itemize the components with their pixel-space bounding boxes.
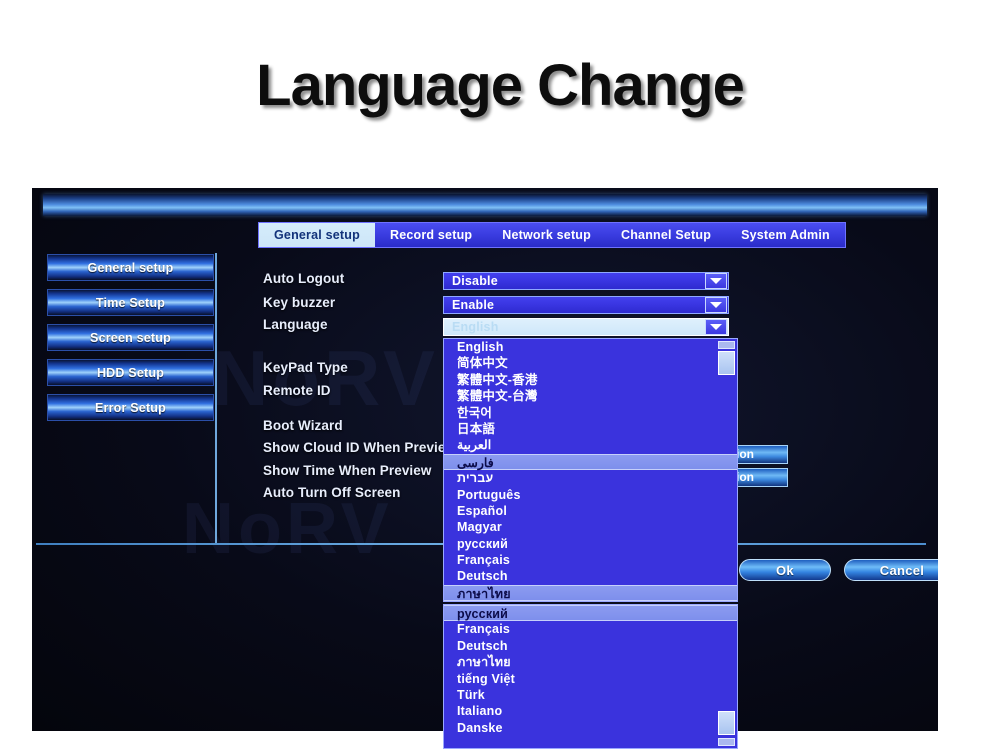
language-option[interactable]: Türk [444, 687, 737, 703]
vertical-divider [215, 253, 217, 544]
tab-general-setup[interactable]: General setup [259, 223, 375, 247]
language-option[interactable]: Deutsch [444, 638, 737, 654]
sidebar-item-hdd-setup[interactable]: HDD Setup [47, 359, 214, 386]
form-label-show-cloud-id-when-preview: Show Cloud ID When Preview [263, 440, 456, 455]
form-label-show-time-when-preview: Show Time When Preview [263, 463, 432, 478]
language-option[interactable]: 한국어 [444, 405, 737, 421]
combo-value: Disable [444, 274, 705, 288]
scrollbar-thumb-lower[interactable] [718, 711, 735, 735]
scroll-down-arrow-icon[interactable] [718, 738, 735, 746]
dropdown-lower-scrollbar[interactable] [718, 607, 735, 746]
language-option[interactable]: English [444, 339, 737, 355]
combo-value: Enable [444, 298, 705, 312]
cancel-button[interactable]: Cancel [844, 559, 938, 581]
language-option[interactable]: русский [444, 536, 737, 552]
language-option[interactable]: русский [444, 605, 737, 621]
sidebar-item-screen-setup[interactable]: Screen setup [47, 324, 214, 351]
chevron-down-icon[interactable] [705, 319, 727, 335]
form-label-remote-id: Remote ID [263, 383, 331, 398]
combo-english[interactable]: English [443, 318, 729, 336]
language-option[interactable]: ภาษาไทย [444, 654, 737, 670]
combo-enable[interactable]: Enable [443, 296, 729, 314]
language-dropdown-list: English简体中文繁體中文-香港繁體中文-台灣한국어日本語العربيةفا… [444, 339, 737, 601]
dropdown-scrollbar[interactable] [718, 341, 735, 599]
language-option[interactable]: Português [444, 487, 737, 503]
language-option[interactable]: Italiano [444, 703, 737, 719]
language-option[interactable]: 简体中文 [444, 355, 737, 371]
scrollbar-thumb[interactable] [718, 351, 735, 375]
triangle-glyph [710, 324, 722, 330]
sidebar-item-error-setup[interactable]: Error Setup [47, 394, 214, 421]
combo-disable[interactable]: Disable [443, 272, 729, 290]
language-option[interactable]: Français [444, 621, 737, 637]
tab-bar: General setupRecord setupNetwork setupCh… [258, 222, 846, 248]
form-label-auto-logout: Auto Logout [263, 271, 344, 286]
chevron-down-icon[interactable] [705, 297, 727, 313]
top-gradient-band [43, 194, 927, 216]
language-dropdown-lower[interactable]: русскийFrançaisDeutschภาษาไทยtiếng ViệtT… [443, 604, 738, 749]
language-option[interactable]: Danske [444, 720, 737, 736]
sidebar-item-general-setup[interactable]: General setup [47, 254, 214, 281]
tab-system-admin[interactable]: System Admin [726, 223, 845, 247]
tab-network-setup[interactable]: Network setup [487, 223, 606, 247]
triangle-glyph [710, 278, 722, 284]
form-label-keypad-type: KeyPad Type [263, 360, 348, 375]
form-label-boot-wizard: Boot Wizard [263, 418, 343, 433]
form-label-auto-turn-off-screen: Auto Turn Off Screen [263, 485, 401, 500]
ok-button[interactable]: Ok [739, 559, 831, 581]
sidebar-item-time-setup[interactable]: Time Setup [47, 289, 214, 316]
language-option[interactable]: Español [444, 503, 737, 519]
language-dropdown-lower-list: русскийFrançaisDeutschภาษาไทยtiếng ViệtT… [444, 605, 737, 736]
language-option[interactable]: 繁體中文-香港 [444, 372, 737, 388]
language-dropdown[interactable]: English简体中文繁體中文-香港繁體中文-台灣한국어日本語العربيةفا… [443, 338, 738, 602]
language-option[interactable]: فارسی [444, 454, 737, 470]
language-option[interactable]: 繁體中文-台灣 [444, 388, 737, 404]
language-option[interactable]: Français [444, 552, 737, 568]
scroll-up-arrow-icon[interactable] [718, 341, 735, 349]
page-title: Language Change [0, 52, 1000, 119]
sidebar: General setupTime SetupScreen setupHDD S… [47, 254, 214, 429]
language-option[interactable]: Magyar [444, 519, 737, 535]
language-option[interactable]: Deutsch [444, 568, 737, 584]
combo-value: English [444, 320, 705, 334]
language-option[interactable]: 日本語 [444, 421, 737, 437]
tab-channel-setup[interactable]: Channel Setup [606, 223, 726, 247]
triangle-glyph [710, 302, 722, 308]
language-option[interactable]: ภาษาไทย [444, 585, 737, 601]
language-option[interactable]: tiếng Việt [444, 671, 737, 687]
form-label-key-buzzer: Key buzzer [263, 295, 335, 310]
chevron-down-icon[interactable] [705, 273, 727, 289]
language-option[interactable]: עברית [444, 470, 737, 486]
language-option[interactable]: العربية [444, 437, 737, 453]
tab-record-setup[interactable]: Record setup [375, 223, 487, 247]
form-label-language: Language [263, 317, 328, 332]
